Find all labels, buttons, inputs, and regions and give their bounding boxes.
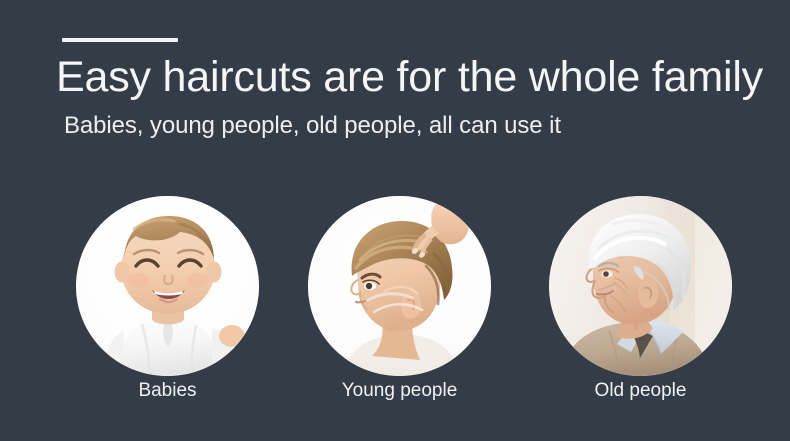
page-subtitle: Babies, young people, old people, all ca… (64, 110, 764, 142)
audience-card-old-people[interactable]: Old people (549, 196, 732, 376)
audience-card-label-young-people: Young people (308, 378, 491, 404)
photo-circle-old-people (549, 196, 732, 376)
audience-card-young-people[interactable]: Young people (308, 196, 491, 376)
photo-circle-babies (76, 196, 259, 376)
promo-banner: Easy haircuts are for the whole family B… (0, 0, 790, 441)
audience-card-label-babies: Babies (76, 378, 259, 404)
photo-circle-young-people (308, 196, 491, 376)
baby-photo-illustration (76, 196, 259, 376)
audience-card-label-old-people: Old people (549, 378, 732, 404)
audience-card-list: Babies (0, 196, 790, 406)
accent-rule (62, 38, 178, 42)
page-title: Easy haircuts are for the whole family (56, 52, 756, 102)
young-person-photo-illustration (308, 196, 491, 376)
old-person-photo-illustration (549, 196, 732, 376)
audience-card-babies[interactable]: Babies (76, 196, 259, 376)
